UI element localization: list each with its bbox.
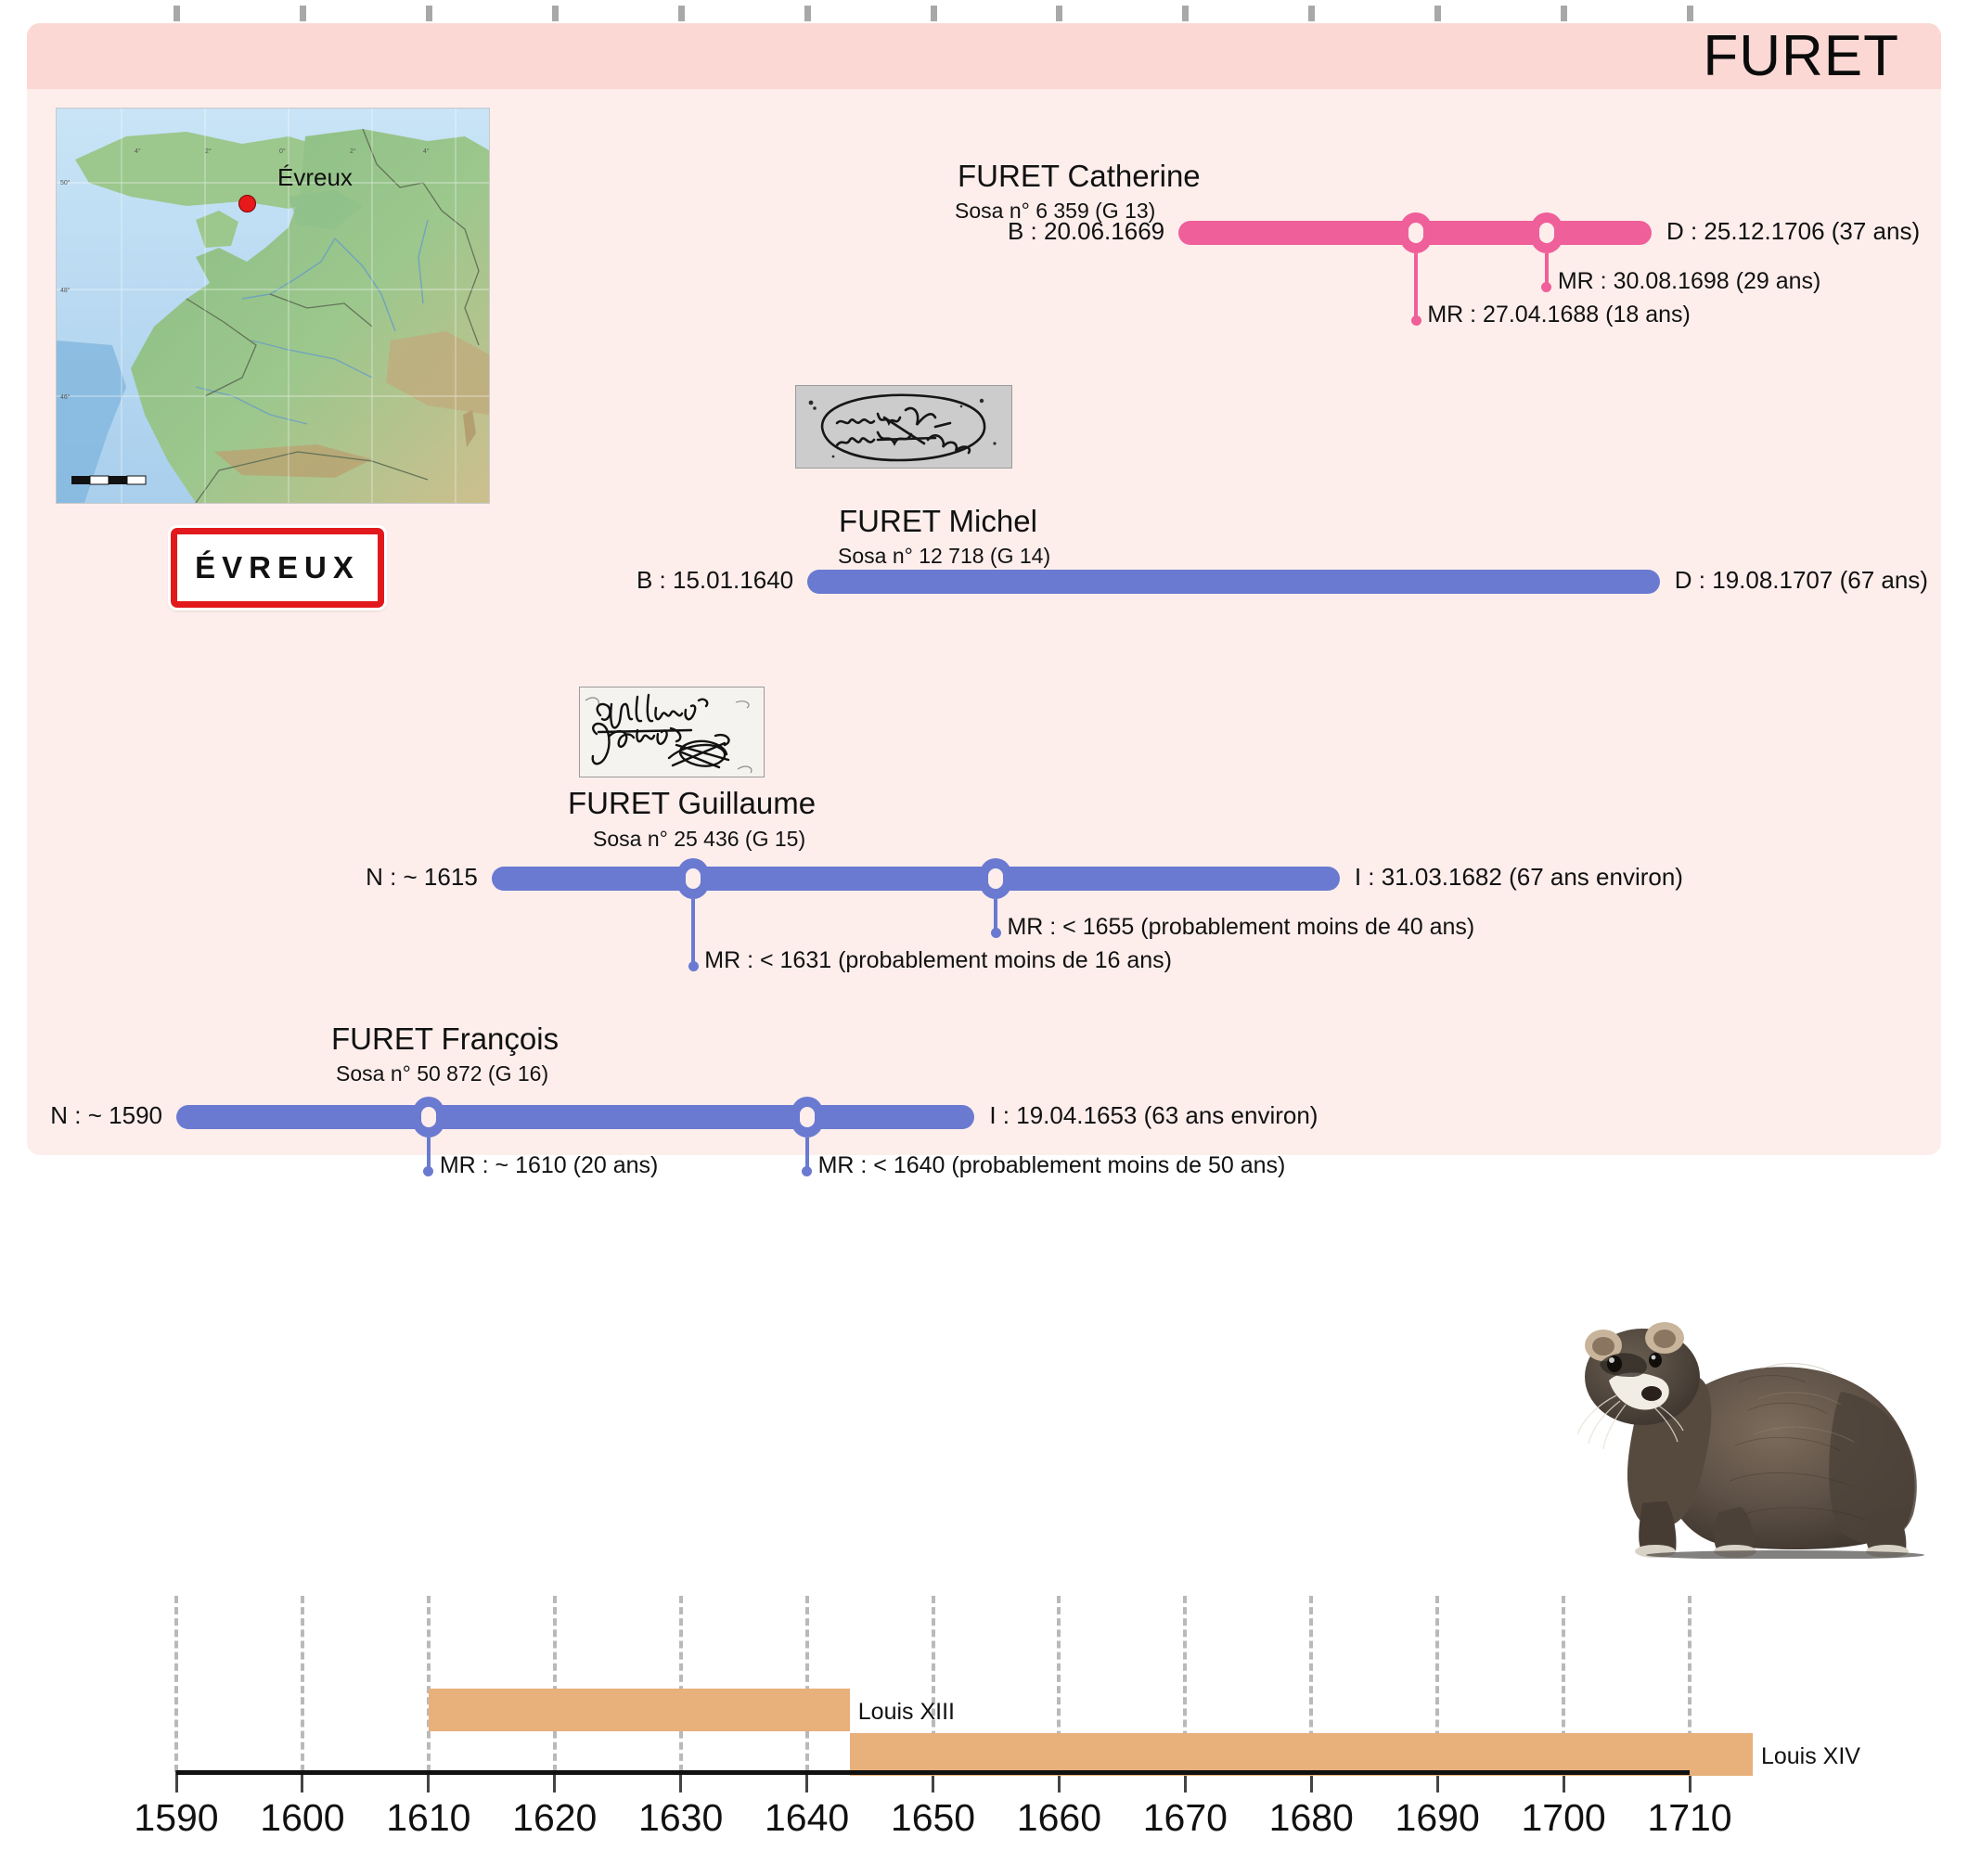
axis-label-1600: 1600 <box>260 1796 344 1840</box>
signature-michel <box>795 385 1012 469</box>
marker-stem-dot-guillaume-2 <box>991 928 1001 938</box>
top-tick-1590 <box>174 6 180 21</box>
marriage-label-guillaume-1: MR : < 1631 (probablement moins de 16 an… <box>704 947 1172 974</box>
svg-text:4°: 4° <box>423 148 430 155</box>
end-label-guillaume: I : 31.03.1682 (67 ans environ) <box>1355 863 1683 892</box>
map-graphic: 4°2°0° 2°4° 50°48°46° <box>57 109 489 503</box>
event-marker-guillaume-2[interactable] <box>980 858 1011 899</box>
top-tick-1690 <box>1434 6 1441 21</box>
marker-hole <box>800 1107 815 1127</box>
svg-text:50°: 50° <box>60 179 71 186</box>
marriage-label-francois-2: MR : < 1640 (probablement moins de 50 an… <box>818 1152 1286 1179</box>
marker-hole <box>686 868 701 889</box>
person-name-guillaume: FURET Guillaume <box>568 786 816 821</box>
end-label-catherine: D : 25.12.1706 (37 ans) <box>1666 217 1920 246</box>
person-name-francois: FURET François <box>331 1022 559 1057</box>
person-name-michel: FURET Michel <box>839 504 1037 539</box>
marker-hole <box>1408 223 1423 243</box>
axis-label-1630: 1630 <box>638 1796 723 1840</box>
signature-guillaume-graphic <box>580 687 764 777</box>
axis-label-1700: 1700 <box>1521 1796 1605 1840</box>
top-tick-1680 <box>1308 6 1315 21</box>
axis-label-1670: 1670 <box>1143 1796 1228 1840</box>
life-bar-francois <box>176 1105 974 1129</box>
axis-baseline <box>176 1770 1690 1775</box>
marker-hole <box>1539 223 1554 243</box>
marker-stem-catherine-1 <box>1414 253 1418 320</box>
reign-label-louis-xiii: Louis XIII <box>858 1699 955 1726</box>
svg-text:46°: 46° <box>60 393 71 401</box>
end-label-michel: D : 19.08.1707 (67 ans) <box>1675 566 1928 595</box>
signature-michel-graphic <box>796 386 1011 468</box>
svg-text:4°: 4° <box>135 148 141 155</box>
axis-label-1650: 1650 <box>891 1796 975 1840</box>
top-tick-1630 <box>678 6 685 21</box>
life-bar-guillaume <box>492 867 1340 891</box>
axis-label-1620: 1620 <box>512 1796 597 1840</box>
gridline-1600 <box>301 1596 308 1772</box>
marker-stem-dot-francois-1 <box>423 1166 433 1176</box>
svg-text:0°: 0° <box>279 148 286 155</box>
event-marker-francois-2[interactable] <box>791 1097 823 1137</box>
reign-bar-louis-xiii <box>429 1689 850 1731</box>
person-sosa-guillaume: Sosa n° 25 436 (G 15) <box>593 827 805 852</box>
map-city-label: Évreux <box>277 163 353 192</box>
marker-stem-guillaume-1 <box>691 899 695 966</box>
marker-stem-dot-catherine-2 <box>1541 282 1551 292</box>
start-label-guillaume: N : ~ 1615 <box>102 863 478 892</box>
gridline-1620 <box>553 1596 560 1772</box>
page-title: FURET <box>1703 29 1899 84</box>
main-panel: FURET <box>27 23 1941 1155</box>
road-sign-text: ÉVREUX <box>195 550 360 585</box>
axis-label-1590: 1590 <box>134 1796 218 1840</box>
svg-text:48°: 48° <box>60 287 71 294</box>
map-scalebar <box>71 476 146 484</box>
person-name-catherine: FURET Catherine <box>958 159 1201 194</box>
signature-guillaume <box>579 687 765 777</box>
marriage-label-catherine-2: MR : 30.08.1698 (29 ans) <box>1558 268 1821 295</box>
start-label-catherine: B : 20.06.1669 <box>789 217 1164 246</box>
top-tick-1620 <box>552 6 559 21</box>
event-marker-catherine-2[interactable] <box>1531 212 1563 253</box>
axis-label-1660: 1660 <box>1017 1796 1101 1840</box>
top-tick-1610 <box>426 6 432 21</box>
marriage-label-catherine-1: MR : 27.04.1688 (18 ans) <box>1427 302 1691 328</box>
header-band <box>27 23 1941 89</box>
axis-label-1690: 1690 <box>1396 1796 1480 1840</box>
svg-text:2°: 2° <box>350 148 356 155</box>
top-tick-1600 <box>300 6 306 21</box>
axis-label-1610: 1610 <box>386 1796 470 1840</box>
top-tick-1710 <box>1687 6 1693 21</box>
gridline-1640 <box>805 1596 813 1772</box>
axis-label-1680: 1680 <box>1269 1796 1354 1840</box>
top-tick-1700 <box>1561 6 1567 21</box>
start-label-francois: N : ~ 1590 <box>0 1101 162 1130</box>
marker-hole <box>988 868 1003 889</box>
person-sosa-francois: Sosa n° 50 872 (G 16) <box>336 1061 548 1086</box>
top-tick-1660 <box>1056 6 1062 21</box>
france-map: 4°2°0° 2°4° 50°48°46° Évreux <box>56 108 490 504</box>
gridline-1610 <box>427 1596 434 1772</box>
infographic-page: FURET <box>0 0 1968 1876</box>
event-marker-catherine-1[interactable] <box>1400 212 1432 253</box>
marker-hole <box>421 1107 436 1127</box>
person-sosa-michel: Sosa n° 12 718 (G 14) <box>838 544 1050 569</box>
event-marker-francois-1[interactable] <box>413 1097 444 1137</box>
map-city-marker-icon <box>238 195 256 212</box>
marker-stem-dot-catherine-1 <box>1411 315 1421 326</box>
top-tick-1640 <box>804 6 811 21</box>
reign-label-louis-xiv: Louis XIV <box>1761 1743 1860 1770</box>
gridline-1630 <box>679 1596 687 1772</box>
top-tick-1670 <box>1182 6 1189 21</box>
event-marker-guillaume-1[interactable] <box>677 858 709 899</box>
marriage-label-francois-1: MR : ~ 1610 (20 ans) <box>440 1152 659 1179</box>
marker-stem-dot-guillaume-1 <box>688 961 699 971</box>
marriage-label-guillaume-2: MR : < 1655 (probablement moins de 40 an… <box>1007 914 1474 941</box>
axis-label-1640: 1640 <box>765 1796 849 1840</box>
axis-label-1710: 1710 <box>1647 1796 1731 1840</box>
top-tick-1650 <box>931 6 937 21</box>
start-label-michel: B : 15.01.1640 <box>418 566 793 595</box>
ferret-photo <box>1563 1280 1962 1559</box>
marker-stem-dot-francois-2 <box>802 1166 812 1176</box>
gridline-1590 <box>174 1596 182 1772</box>
svg-text:2°: 2° <box>205 148 212 155</box>
life-bar-michel <box>807 570 1660 594</box>
evreux-road-sign: ÉVREUX <box>171 528 384 608</box>
end-label-francois: I : 19.04.1653 (63 ans environ) <box>989 1101 1318 1130</box>
